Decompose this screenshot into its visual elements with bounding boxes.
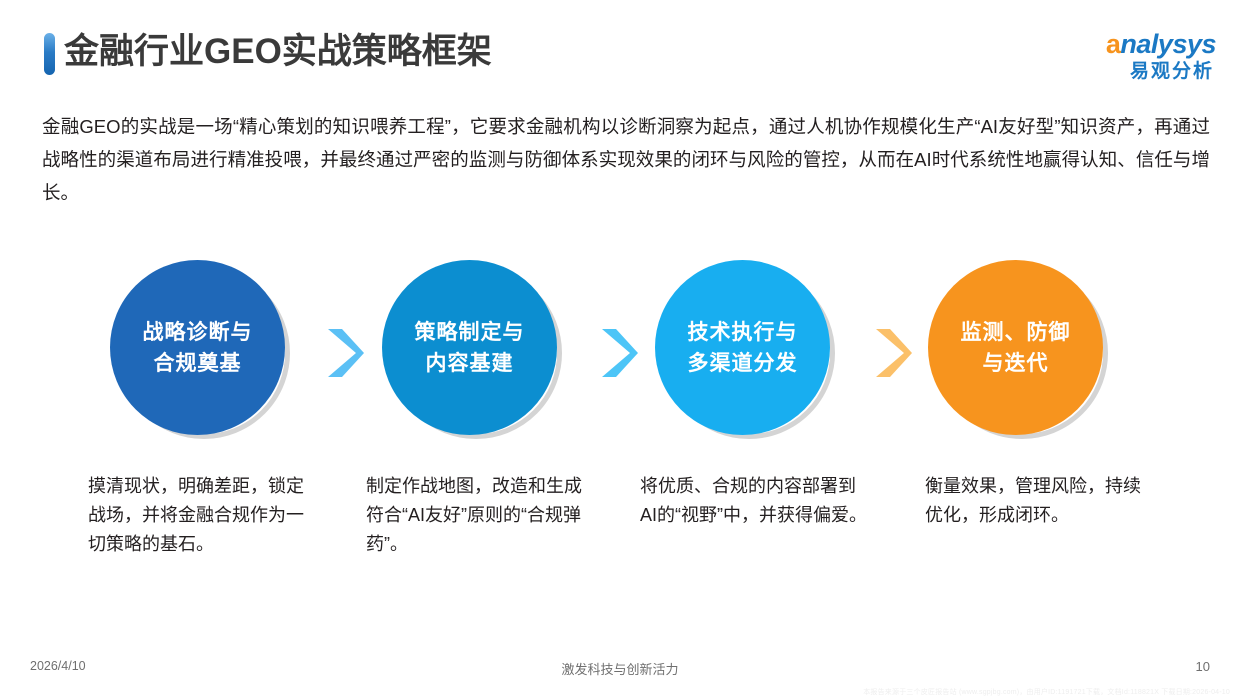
- stage-circle-1[interactable]: 战略诊断与 合规奠基: [110, 260, 285, 435]
- slide-footer: 2026/4/10 激发科技与创新活力 10 本报告来源于三个皮匠报告站 (ww…: [0, 649, 1240, 697]
- flow-stage-3[interactable]: 技术执行与 多渠道分发: [655, 255, 835, 445]
- stage-label-1: 战略诊断与 合规奠基: [143, 317, 253, 379]
- flow-arrow-3-icon: [874, 327, 914, 379]
- brand-wordmark: analysys: [1052, 28, 1222, 60]
- brand-logo: analysys 易观分析: [1052, 28, 1222, 86]
- stage-circle-3[interactable]: 技术执行与 多渠道分发: [655, 260, 830, 435]
- brand-wordmark-text: nalysys: [1120, 29, 1216, 59]
- stage-label-2: 策略制定与 内容基建: [415, 317, 525, 379]
- stage-circle-2[interactable]: 策略制定与 内容基建: [382, 260, 557, 435]
- stage-circle-4[interactable]: 监测、防御 与迭代: [928, 260, 1103, 435]
- flow-arrow-1-icon: [326, 327, 366, 379]
- brand-chinese-name: 易观分析: [1052, 60, 1222, 84]
- flow-stage-4[interactable]: 监测、防御 与迭代: [928, 255, 1108, 445]
- captions-row: 摸清现状，明确差距，锁定战场，并将金融合规作为一切策略的基石。 制定作战地图，改…: [0, 472, 1240, 602]
- title-accent-bar: [44, 33, 55, 75]
- stage-caption-3: 将优质、合规的内容部署到AI的“视野”中，并获得偏爱。: [640, 472, 872, 530]
- flow-stage-1[interactable]: 战略诊断与 合规奠基: [110, 255, 290, 445]
- flow-arrow-2-icon: [600, 327, 640, 379]
- stage-label-3: 技术执行与 多渠道分发: [688, 317, 798, 379]
- intro-paragraph: 金融GEO的实战是一场“精心策划的知识喂养工程”，它要求金融机构以诊断洞察为起点…: [42, 110, 1210, 209]
- stage-caption-4: 衡量效果，管理风险，持续优化，形成闭环。: [925, 472, 1157, 530]
- stage-label-4: 监测、防御 与迭代: [961, 317, 1071, 379]
- footer-watermark: 本报告来源于三个皮匠报告站 (www.sgpjbg.com)，由用户ID:119…: [863, 687, 1230, 697]
- footer-slogan: 激发科技与创新活力: [0, 659, 1240, 678]
- footer-page-number: 10: [1196, 659, 1210, 674]
- page-title: 金融行业GEO实战策略框架: [64, 26, 492, 78]
- flow-stage-2[interactable]: 策略制定与 内容基建: [382, 255, 562, 445]
- analysys-a-icon: a: [1106, 29, 1121, 59]
- slide-header: 金融行业GEO实战策略框架 analysys 易观分析: [0, 0, 1240, 92]
- flow-diagram: 战略诊断与 合规奠基 策略制定与 内容基建 技术执行与 多渠道分发 监测、防御 …: [0, 255, 1240, 455]
- stage-caption-2: 制定作战地图，改造和生成符合“AI友好”原则的“合规弹药”。: [366, 472, 598, 559]
- stage-caption-1: 摸清现状，明确差距，锁定战场，并将金融合规作为一切策略的基石。: [88, 472, 320, 559]
